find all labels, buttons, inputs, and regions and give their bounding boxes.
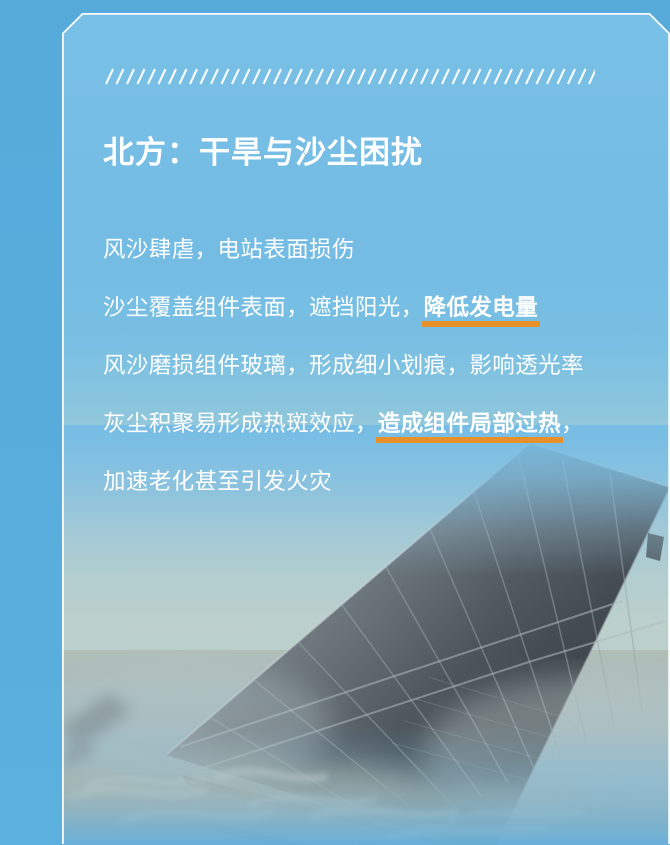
body-line-4-highlight: 造成组件局部过热 [378,411,561,438]
body-line-4: 灰尘积聚易形成热斑效应，造成组件局部过热， [103,395,651,453]
body-copy: 风沙肆虐，电站表面损伤 沙尘覆盖组件表面，遮挡阳光，降低发电量 风沙磨损组件玻璃… [103,221,651,511]
body-line-2-highlight: 降低发电量 [424,295,539,322]
slash-divider [103,65,595,89]
body-line-5: 加速老化甚至引发火灾 [103,453,651,511]
body-line-4-tail: ， [561,411,584,436]
body-line-2-text: 沙尘覆盖组件表面，遮挡阳光， [103,295,424,320]
body-line-5-text: 加速老化甚至引发火灾 [103,469,332,494]
body-line-3-text: 风沙磨损组件玻璃，形成细小划痕，影响透光率 [103,353,584,378]
body-line-2: 沙尘覆盖组件表面，遮挡阳光，降低发电量 [103,279,651,337]
content-card: 北方：干旱与沙尘困扰 风沙肆虐，电站表面损伤 沙尘覆盖组件表面，遮挡阳光，降低发… [62,13,670,845]
page-title: 北方：干旱与沙尘困扰 [103,131,643,175]
body-line-3: 风沙磨损组件玻璃，形成细小划痕，影响透光率 [103,337,651,395]
body-line-4-text: 灰尘积聚易形成热斑效应， [103,411,378,436]
body-line-1: 风沙肆虐，电站表面损伤 [103,221,651,279]
body-line-1-text: 风沙肆虐，电站表面损伤 [103,237,355,262]
poster-root: 北方：干旱与沙尘困扰 风沙肆虐，电站表面损伤 沙尘覆盖组件表面，遮挡阳光，降低发… [0,0,670,845]
